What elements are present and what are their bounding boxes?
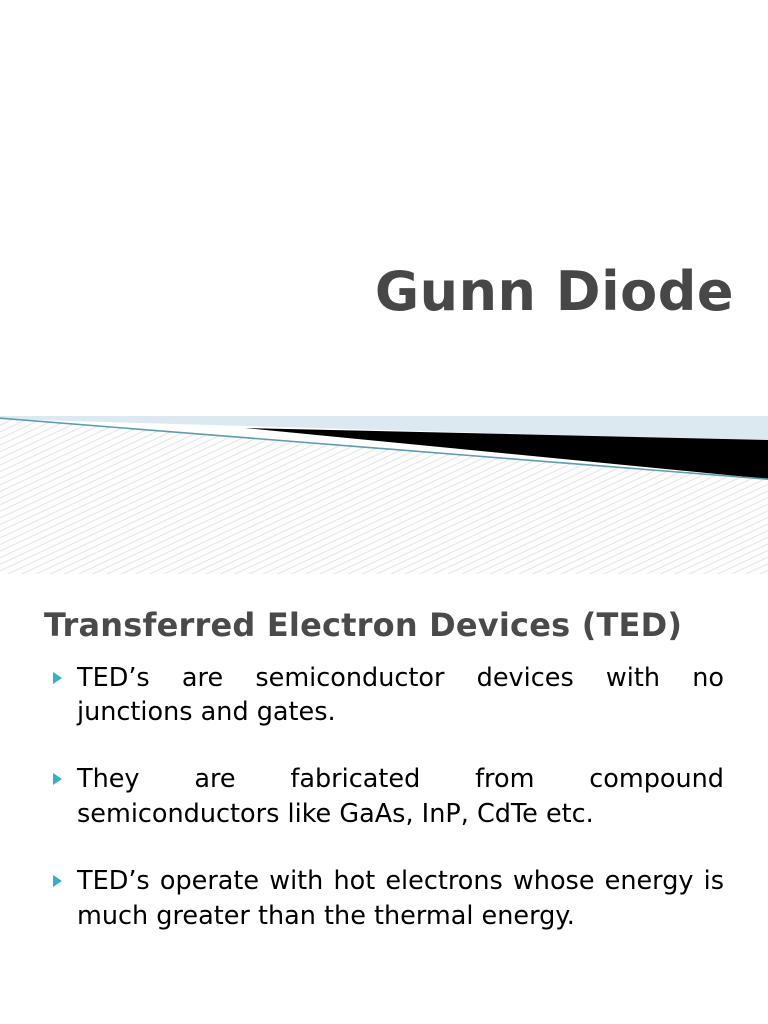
list-item: They are fabricated from compound semico…: [44, 762, 724, 832]
slide: Gunn Diode: [0, 0, 768, 1024]
title-zone: Gunn Diode: [0, 228, 734, 357]
triangle-right-bullet-icon: [53, 875, 62, 887]
body-zone: Transferred Electron Devices (TED) TED’s…: [44, 604, 724, 934]
banner-graphic: [0, 405, 768, 585]
decorative-banner: [0, 405, 768, 585]
list-item-text: TED’s are semiconductor devices with no …: [77, 661, 724, 731]
list-item-text: TED’s operate with hot electrons whose e…: [77, 864, 724, 934]
list-item: TED’s operate with hot electrons whose e…: [44, 864, 724, 934]
body-heading: Transferred Electron Devices (TED): [44, 604, 724, 647]
list-item: TED’s are semiconductor devices with no …: [44, 661, 724, 731]
triangle-right-bullet-icon: [53, 773, 62, 785]
list-item-text: They are fabricated from compound semico…: [77, 762, 724, 832]
bullet-list: TED’s are semiconductor devices with no …: [44, 661, 724, 935]
triangle-right-bullet-icon: [53, 672, 62, 684]
page-title: Gunn Diode: [375, 264, 734, 321]
